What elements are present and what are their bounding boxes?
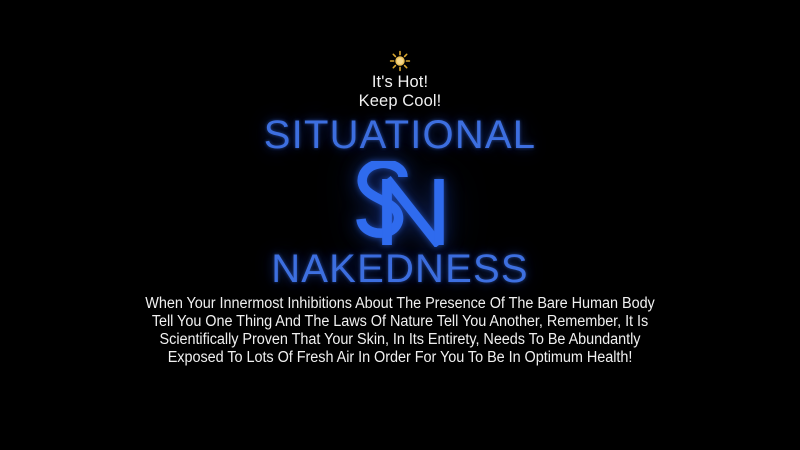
tagline-line-1: It's Hot! [359, 73, 442, 92]
poster-canvas: It's Hot! Keep Cool! SITUATIONAL NAKEDNE… [0, 0, 800, 450]
blurb-line-4: Exposed To Lots Of Fresh Air In Order Fo… [41, 349, 759, 367]
page-title-word-top: SITUATIONAL [264, 113, 537, 157]
logo-monogram [340, 161, 460, 247]
sun-icon-container [389, 50, 411, 72]
tagline: It's Hot! Keep Cool! [359, 73, 442, 111]
blurb-line-2: Tell You One Thing And The Laws Of Natur… [41, 313, 759, 331]
sn-monogram-icon [340, 161, 460, 247]
tagline-line-2: Keep Cool! [359, 92, 442, 111]
page-title-word-bottom: NAKEDNESS [271, 247, 529, 291]
sun-icon [389, 50, 411, 72]
blurb-paragraph: When Your Innermost Inhibitions About Th… [20, 295, 780, 367]
blurb-line-1: When Your Innermost Inhibitions About Th… [41, 295, 759, 313]
blurb-line-3: Scientifically Proven That Your Skin, In… [41, 331, 759, 349]
